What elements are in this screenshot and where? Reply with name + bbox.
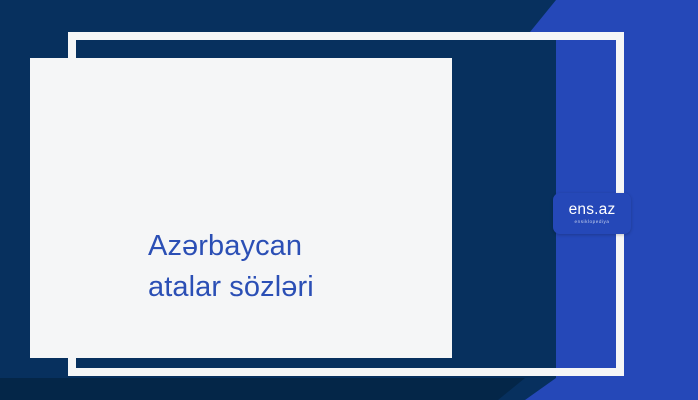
slide-canvas: Azərbaycan atalar sözləri ens.az ensiklo…	[0, 0, 698, 400]
page-title: Azərbaycan atalar sözləri	[148, 226, 448, 308]
logo-wordmark: ens.az	[569, 202, 616, 218]
navy-bottom-wedge	[0, 378, 525, 400]
ens-az-logo-badge[interactable]: ens.az ensiklopediya	[553, 193, 631, 234]
content-card: Azərbaycan atalar sözləri	[30, 58, 452, 358]
logo-tagline: ensiklopediya	[575, 220, 610, 225]
